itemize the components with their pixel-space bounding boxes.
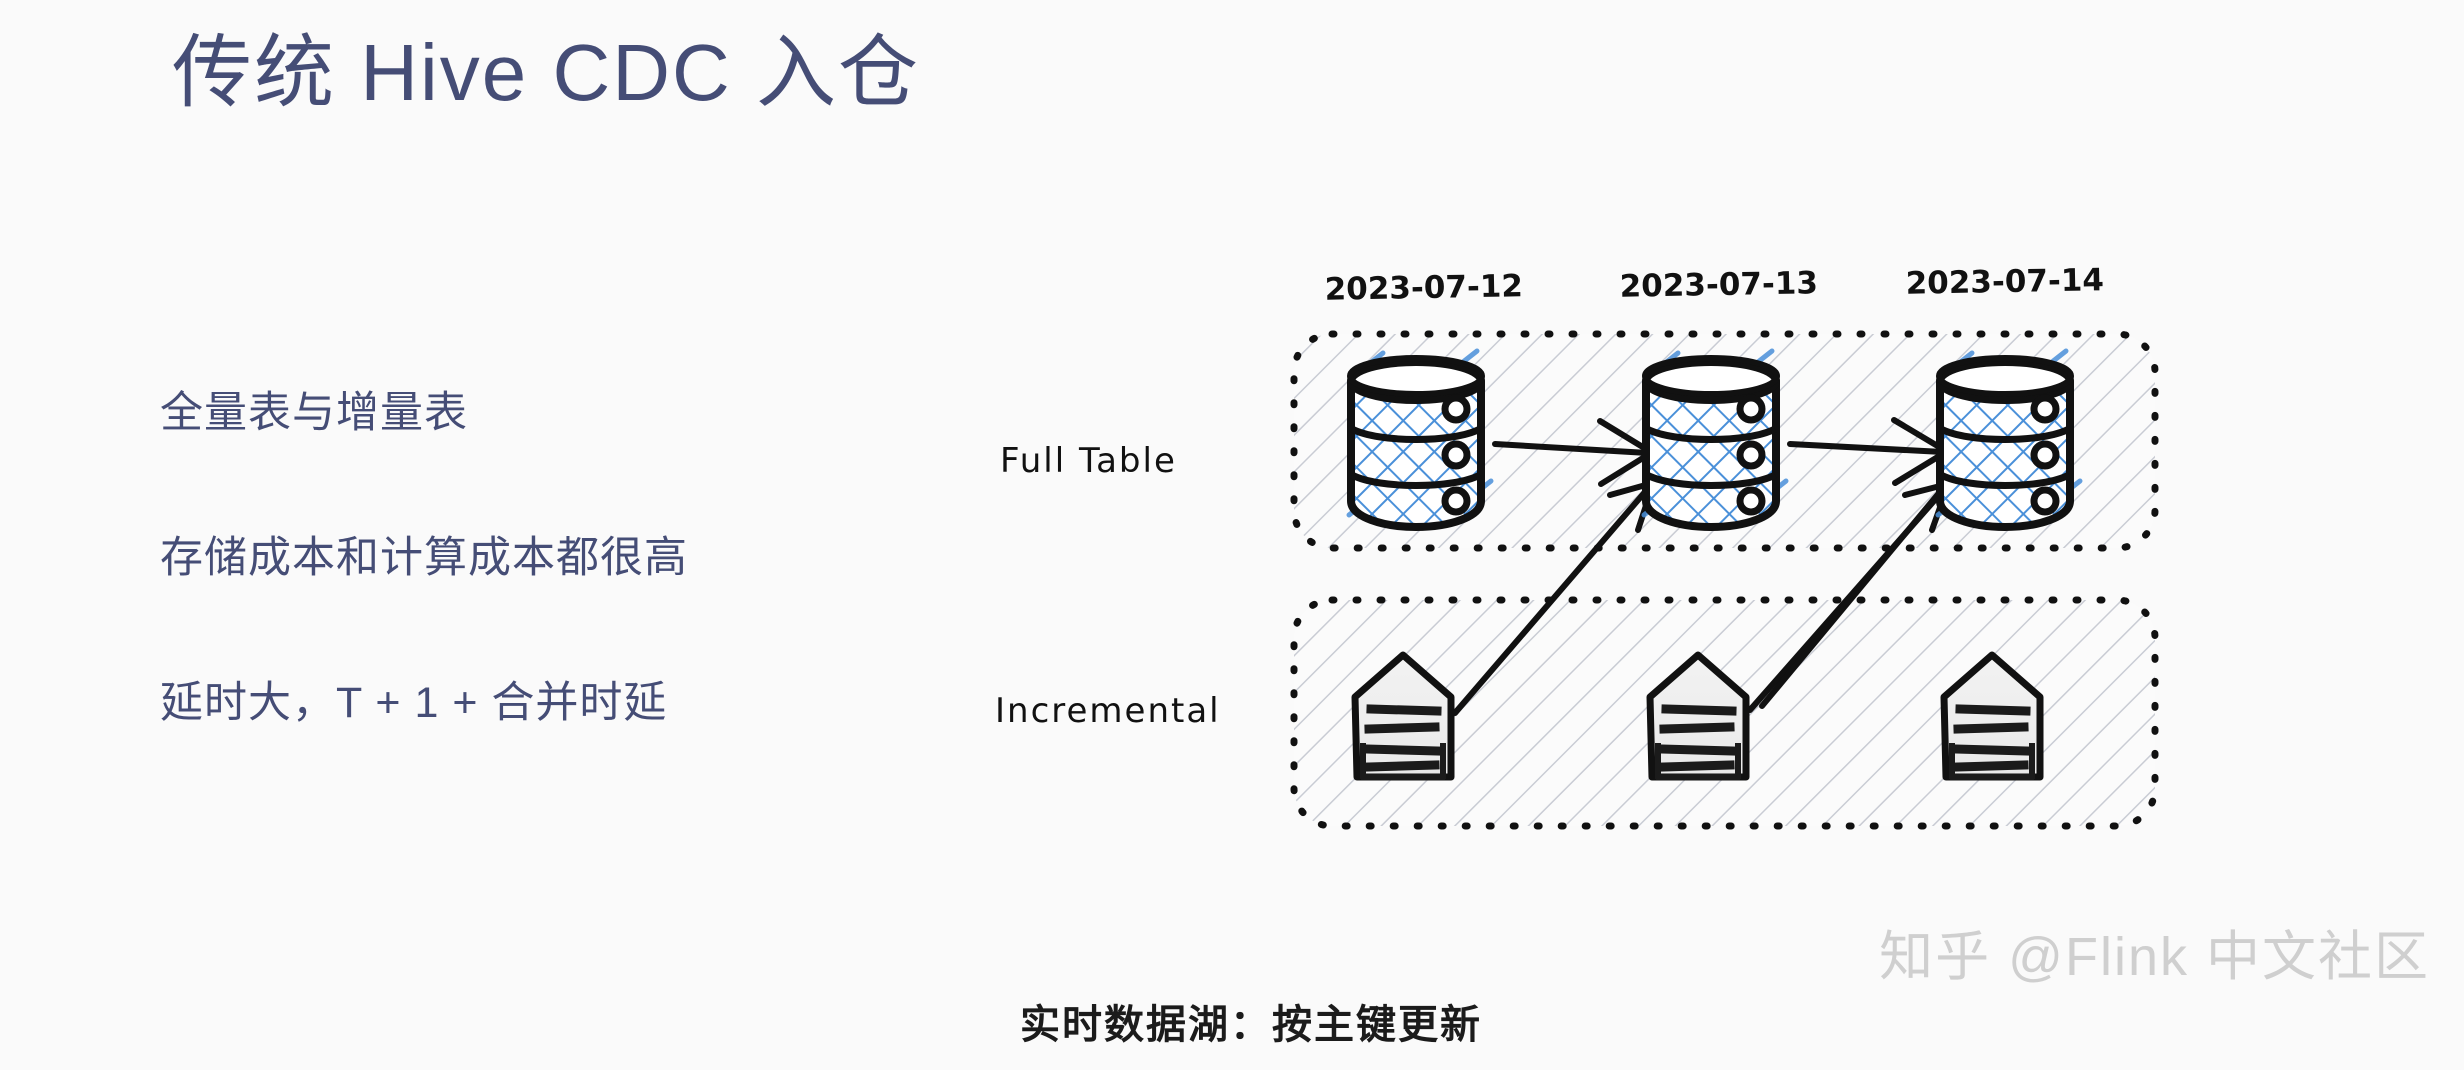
- arrow-full-12-to-13: [1495, 421, 1651, 484]
- column-date-labels: 2023-07-12 2023-07-13 2023-07-14: [1324, 262, 2104, 307]
- row-label-incremental: Incremental: [995, 691, 1221, 731]
- row-labels: Full Table Incremental: [995, 441, 1221, 731]
- warehouse-file-icon-3: [1944, 655, 2040, 779]
- slide-canvas: 传统 Hive CDC 入仓 全量表与增量表 存储成本和计算成本都很高 延时大，…: [0, 0, 2464, 1070]
- bullet-item-1: 全量表与增量表: [160, 378, 468, 440]
- warehouse-file-icon-1: [1355, 655, 1451, 779]
- bullet-item-2: 存储成本和计算成本都很高: [160, 523, 688, 585]
- watermark: 知乎 @Flink 中文社区: [1879, 912, 2430, 991]
- database-cylinder-icon-2: [1644, 351, 1786, 527]
- full-table-group-container: [1294, 334, 2155, 548]
- page-title: 传统 Hive CDC 入仓: [172, 8, 920, 124]
- warehouse-file-icon-2: [1650, 655, 1746, 779]
- date-label-2: 2023-07-13: [1619, 265, 1818, 304]
- date-label-1: 2023-07-12: [1324, 268, 1523, 307]
- arrow-incremental-12-to-full-13: [1455, 483, 1653, 713]
- arrow-full-13-to-14: [1790, 420, 1946, 483]
- date-label-3: 2023-07-14: [1905, 262, 2104, 301]
- row-label-full-table: Full Table: [1000, 441, 1177, 481]
- arrow-incremental-13-to-full-14: [1750, 484, 1948, 710]
- bottom-caption: 实时数据湖：按主键更新: [1020, 992, 1482, 1050]
- database-cylinder-icon-1: [1349, 351, 1491, 527]
- database-cylinder-icon-3: [1938, 351, 2080, 527]
- incremental-group-container: [1294, 600, 2155, 826]
- bullet-item-3: 延时大，T + 1 + 合并时延: [160, 668, 667, 730]
